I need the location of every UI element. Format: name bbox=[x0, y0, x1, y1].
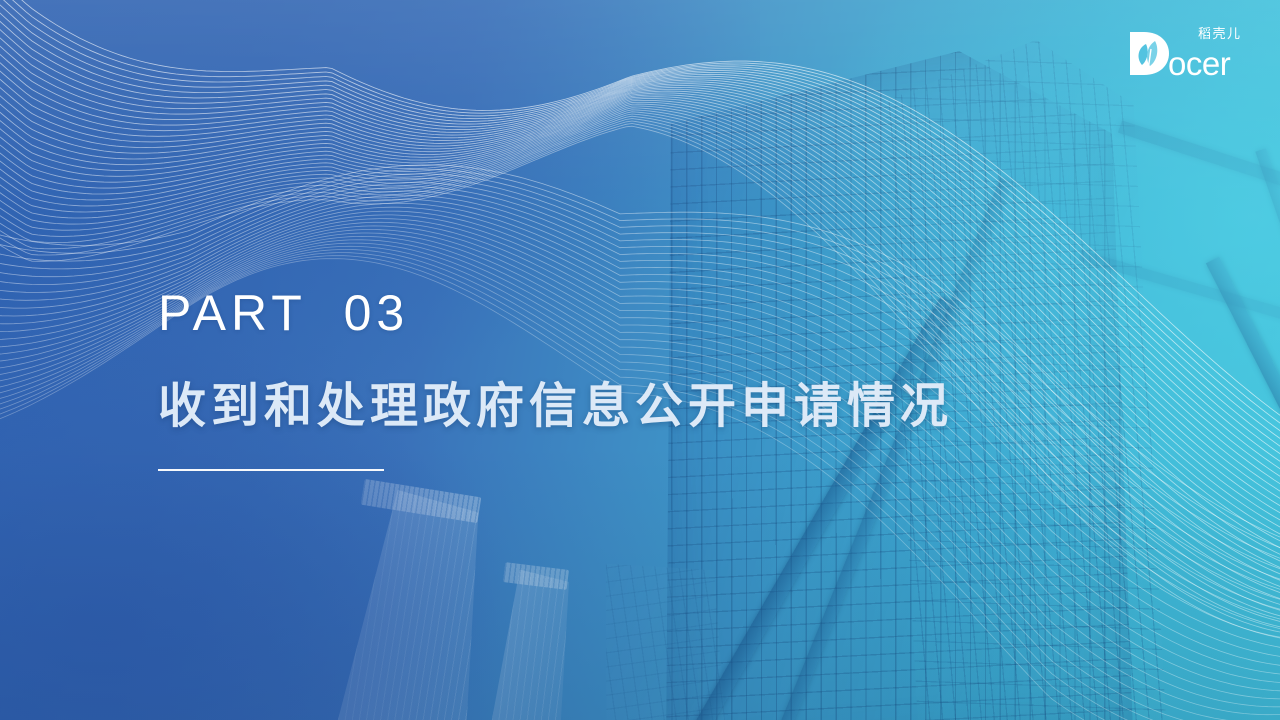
page-title: 收到和处理政府信息公开申请情况 bbox=[158, 381, 1118, 433]
leaf-sprout-icon bbox=[1130, 32, 1169, 75]
slide-root: PART 03 收到和处理政府信息公开申请情况 稻壳儿 ocer bbox=[0, 0, 1280, 720]
part-label: PART 03 bbox=[158, 288, 1118, 338]
title-underline bbox=[158, 469, 384, 471]
docer-logo[interactable]: 稻壳儿 ocer bbox=[1124, 18, 1252, 80]
section-text-block: PART 03 收到和处理政府信息公开申请情况 bbox=[158, 288, 1118, 471]
logo-chinese-text: 稻壳儿 bbox=[1198, 26, 1242, 41]
logo-wordmark-text: ocer bbox=[1168, 45, 1231, 80]
